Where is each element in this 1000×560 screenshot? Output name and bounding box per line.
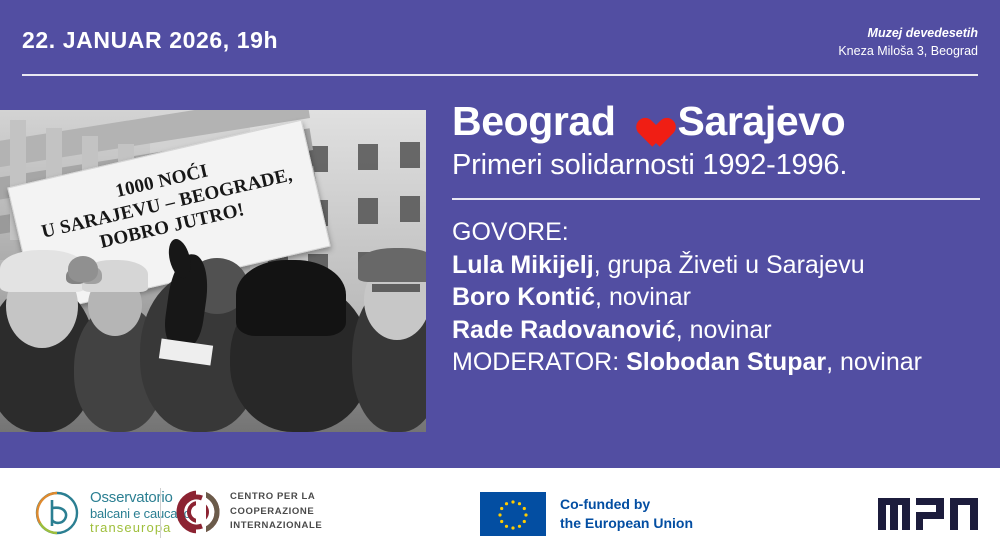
speakers-block: GOVORE: Lula Mikijelj, grupa Živeti u Sa…	[452, 216, 980, 379]
venue-name: Muzej devedesetih	[838, 24, 978, 42]
event-date: 22. JANUAR 2026, 19h	[22, 27, 278, 54]
eu-flag-icon	[480, 492, 546, 536]
main-content: Beograd Sarajevo Primeri solidarnosti 19…	[452, 100, 980, 379]
eu-wordmark: Co-funded by the European Union	[560, 495, 693, 533]
venue-address: Kneza Miloša 3, Beograd	[838, 42, 978, 60]
moderator-role: , novinar	[826, 348, 922, 376]
centro-mark-icon	[176, 490, 220, 534]
title-city-right: Sarajevo	[678, 100, 846, 143]
speaker-row: Boro Kontić, novinar	[452, 281, 980, 314]
mdn-museum-logo	[878, 494, 978, 534]
eu-line-1: Co-funded by	[560, 495, 693, 514]
centro-line-1: CENTRO PER LA	[230, 490, 322, 505]
speaker-role: , novinar	[595, 283, 691, 311]
centro-wordmark: CENTRO PER LA COOPERAZIONE INTERNAZIONAL…	[230, 490, 322, 534]
speakers-heading: GOVORE:	[452, 216, 980, 249]
osservatorio-logo: Osservatorio balcani e caucaso transeuro…	[34, 490, 191, 536]
title-city-left: Beograd	[452, 100, 616, 143]
speaker-name: Boro Kontić	[452, 283, 595, 311]
centro-line-3: INTERNAZIONALE	[230, 519, 322, 534]
page-title: Beograd Sarajevo	[452, 100, 980, 143]
poster-footer: Osservatorio balcani e caucaso transeuro…	[0, 468, 1000, 560]
speaker-role: , grupa Živeti u Sarajevu	[594, 251, 865, 279]
event-poster: 22. JANUAR 2026, 19h Muzej devedesetih K…	[0, 0, 1000, 560]
speaker-role: , novinar	[676, 316, 772, 344]
speaker-row: Lula Mikijelj, grupa Živeti u Sarajevu	[452, 249, 980, 282]
crowd	[0, 252, 426, 432]
eu-line-2: the European Union	[560, 514, 693, 533]
flower	[68, 256, 98, 282]
speaker-name: Rade Radovanović	[452, 316, 676, 344]
speaker-name: Lula Mikijelj	[452, 251, 594, 279]
moderator-row: MODERATOR: Slobodan Stupar, novinar	[452, 346, 980, 379]
page-subtitle: Primeri solidarnosti 1992-1996.	[452, 149, 980, 182]
moderator-label: MODERATOR:	[452, 348, 626, 376]
osservatorio-mark-icon	[34, 490, 80, 536]
centro-line-2: COOPERAZIONE	[230, 505, 322, 520]
protest-photo: 1000 NOĆI U SARAJEVU – BEOGRADE, DOBRO J…	[0, 110, 426, 432]
header-divider	[22, 74, 978, 76]
heart-icon	[630, 106, 664, 137]
eu-cofunded-logo: Co-funded by the European Union	[480, 492, 693, 536]
poster-header: 22. JANUAR 2026, 19h Muzej devedesetih K…	[0, 0, 1000, 95]
content-divider	[452, 198, 980, 200]
centro-cooperazione-logo: CENTRO PER LA COOPERAZIONE INTERNAZIONAL…	[176, 490, 322, 534]
mdn-mark-icon	[878, 494, 978, 534]
venue-block: Muzej devedesetih Kneza Miloša 3, Beogra…	[838, 24, 978, 60]
moderator-name: Slobodan Stupar	[626, 348, 826, 376]
footer-logo-divider	[160, 488, 161, 538]
speaker-row: Rade Radovanović, novinar	[452, 314, 980, 347]
